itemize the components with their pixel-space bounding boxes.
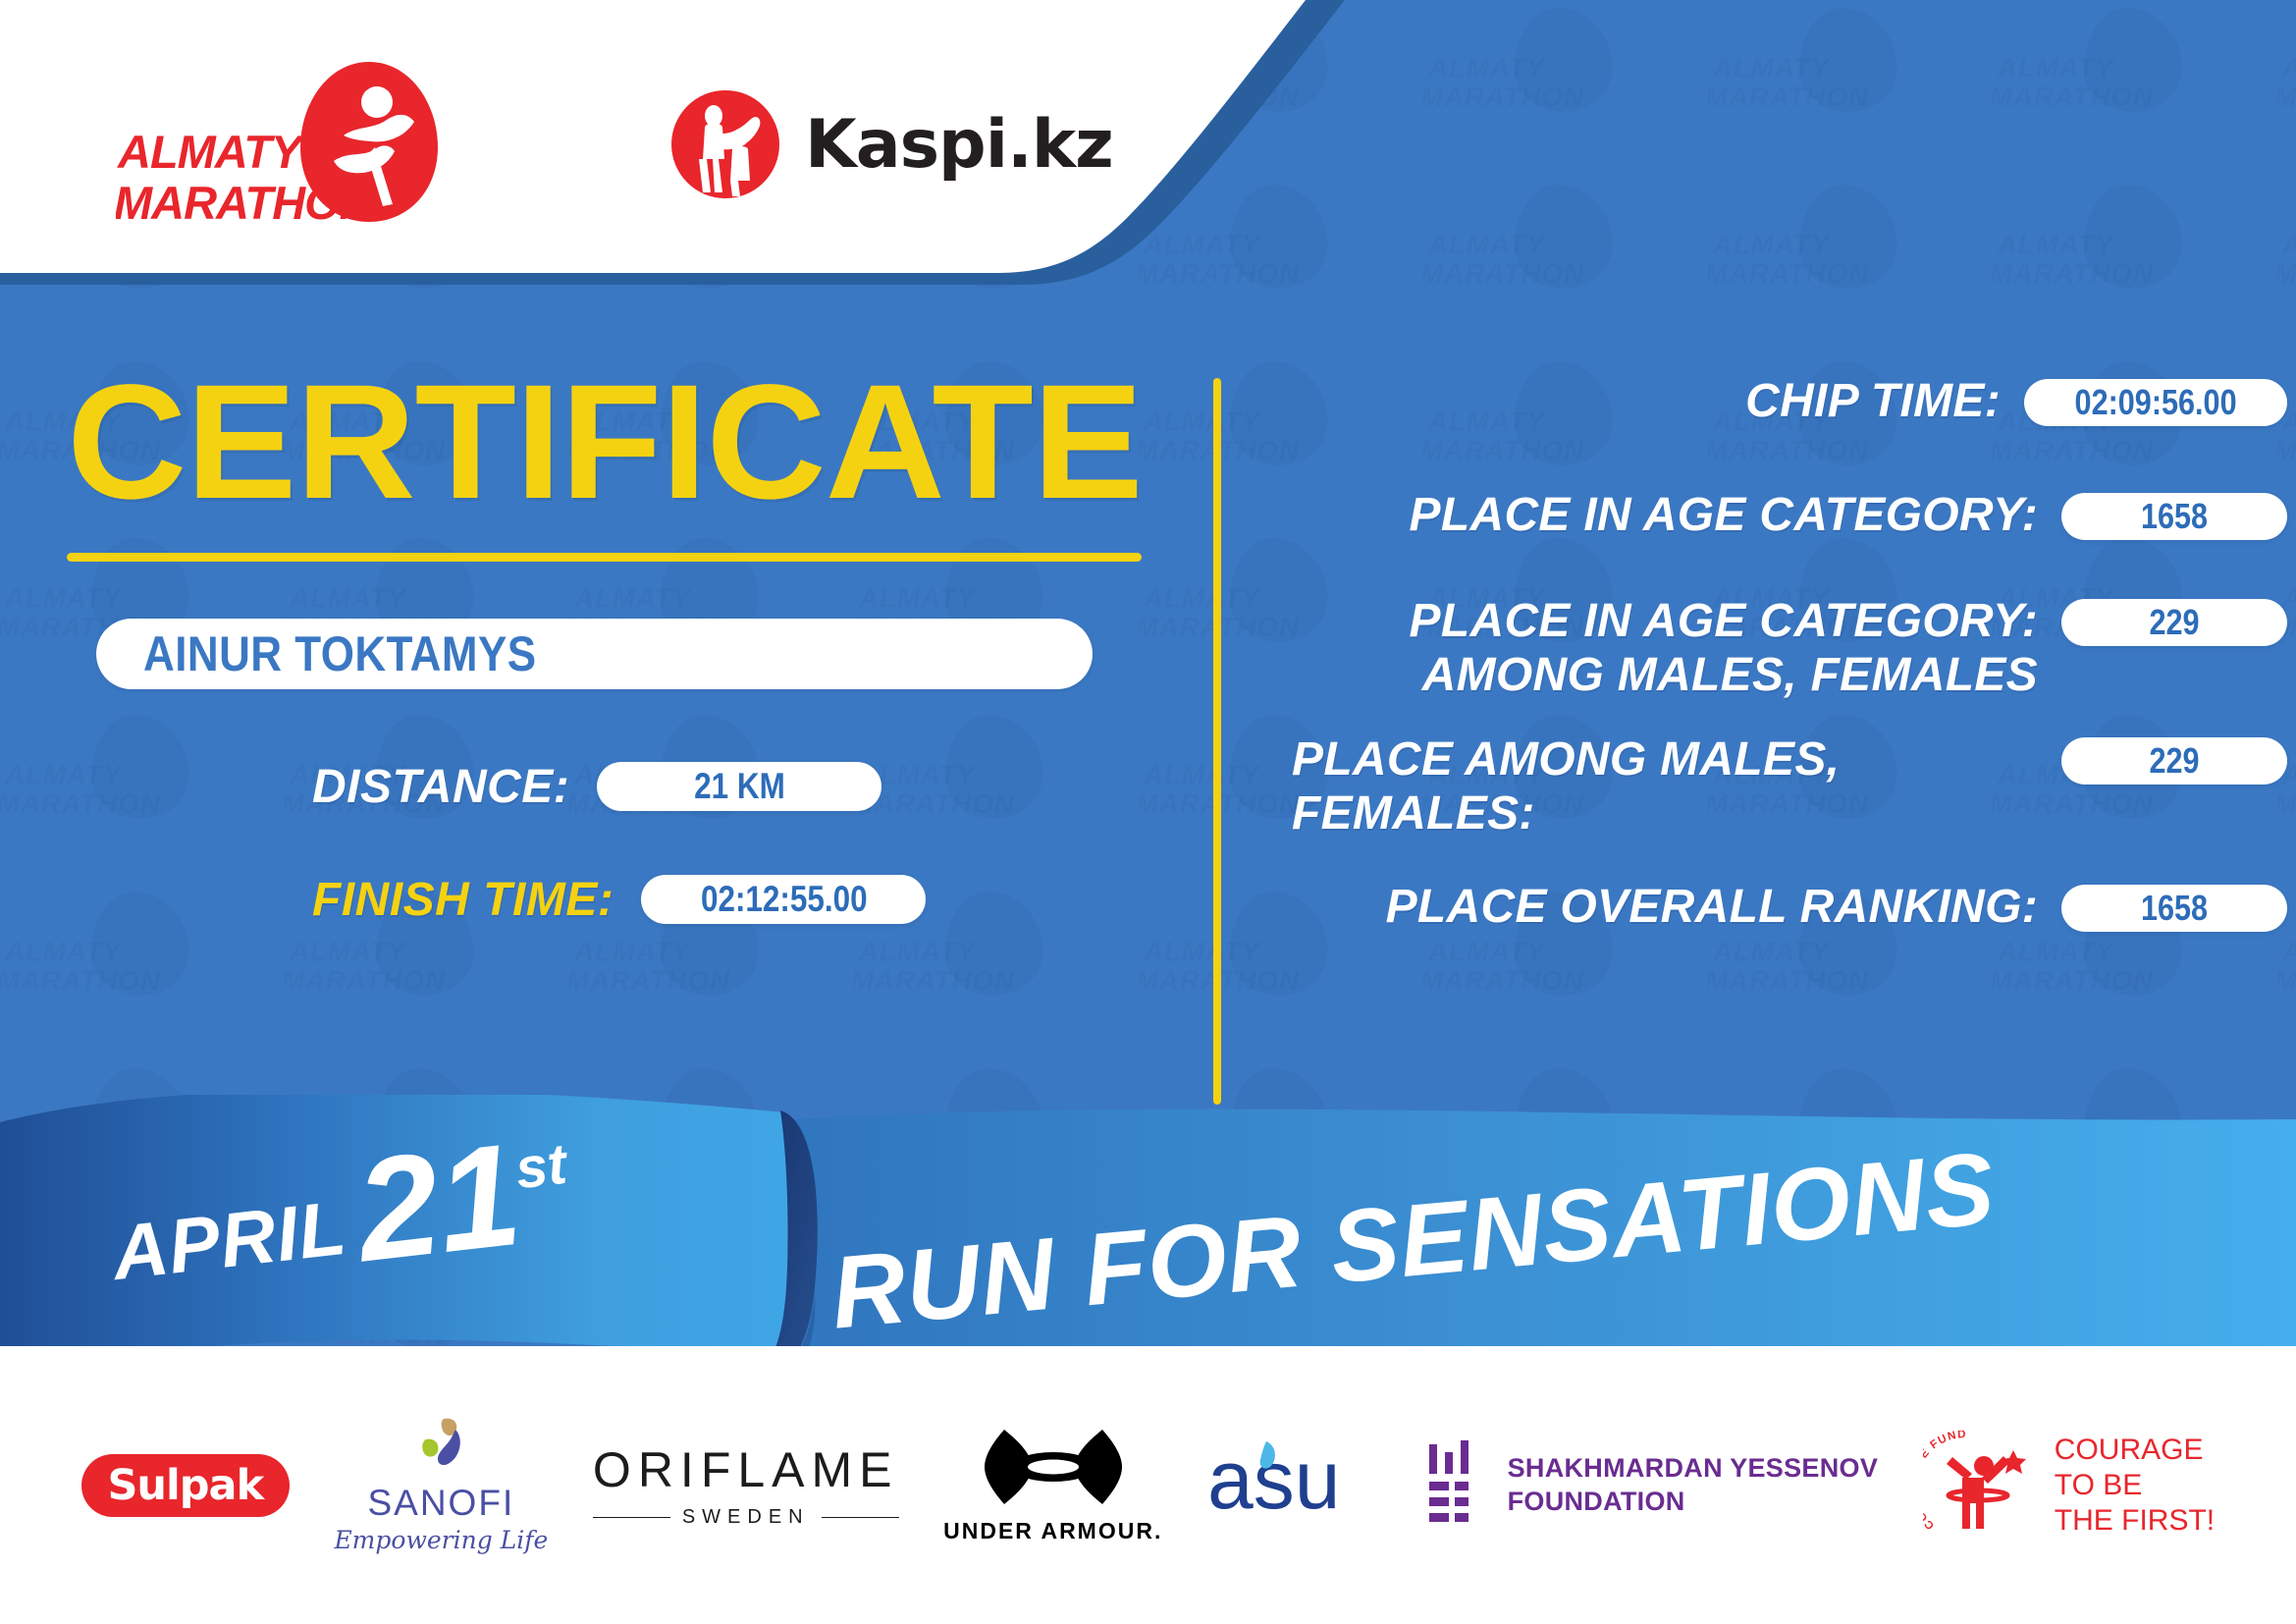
participant-name-value: AINUR TOKTAMYS (143, 625, 537, 682)
place-among-gender-label-line2: FEMALES: (1292, 787, 2061, 841)
finish-time-row: FINISH TIME: 02:12:55.00 (312, 873, 1207, 927)
svg-text:CORPORATE FUND: CORPORATE FUND (1923, 1431, 1967, 1532)
header-logos: ALMATY MARATHON Kaspi.kz (0, 0, 1178, 285)
place-age-category-label: PLACE IN AGE CATEGORY: (1207, 489, 2061, 543)
courage-logo-line2: TO BE (2055, 1468, 2215, 1503)
sulpak-logo-text: Sulpak (107, 1461, 263, 1510)
almaty-logo-line2: MARATHON (116, 177, 374, 229)
courage-logo-text: COURAGE TO BE THE FIRST! (2055, 1433, 2215, 1539)
certificate-body: CERTIFICATE AINUR TOKTAMYS DISTANCE: 21 … (0, 295, 2296, 1139)
oriflame-rule-left (593, 1517, 670, 1519)
place-age-category-gender-label-line1: PLACE IN AGE CATEGORY: (1207, 595, 2038, 649)
sulpak-logo: Sulpak (81, 1454, 290, 1517)
place-overall-value-pill: 1658 (2061, 885, 2287, 932)
oriflame-tagline: SWEDEN (682, 1506, 810, 1529)
under-armour-logo-text: UNDER ARMOUR. (943, 1518, 1162, 1544)
sponsor-sanofi: SANOFI Empowering Life (334, 1416, 548, 1554)
sponsor-sulpak: Sulpak (81, 1454, 290, 1517)
sponsor-asu: asu (1207, 1437, 1380, 1533)
distance-value: 21 KM (694, 766, 785, 807)
sponsor-yessenov-foundation: SHAKHMARDAN YESSENOV FOUNDATION (1425, 1440, 1879, 1531)
left-column: CERTIFICATE AINUR TOKTAMYS DISTANCE: 21 … (0, 295, 1207, 1139)
place-among-gender-value-pill: 229 (2061, 737, 2287, 785)
courage-logo-line1: COURAGE (2055, 1433, 2215, 1468)
kaspi-logo: Kaspi.kz (667, 86, 1113, 202)
oriflame-sub: SWEDEN (593, 1506, 899, 1529)
yessenov-logo-line1: SHAKHMARDAN YESSENOV (1508, 1452, 1879, 1486)
place-among-gender-value: 229 (2149, 740, 2199, 782)
chip-time-value: 02:09:56.00 (2074, 382, 2236, 423)
header-band: ALMATY MARATHON Kaspi.kz (0, 0, 1394, 295)
place-age-category-gender-value-pill: 229 (2061, 599, 2287, 646)
sponsors-footer: Sulpak SANOFI Empowering Life ORIFLAME (0, 1346, 2296, 1624)
place-among-gender-label: PLACE AMONG MALES, FEMALES: (1207, 733, 2061, 840)
finish-time-value: 02:12:55.00 (700, 879, 867, 920)
sanofi-tagline: Empowering Life (334, 1526, 548, 1554)
vertical-divider (1213, 378, 1221, 1105)
under-armour-logo: UNDER ARMOUR. (943, 1426, 1162, 1544)
kaspi-logo-text: Kaspi.kz (805, 106, 1113, 184)
almaty-marathon-logo: ALMATY MARATHON (116, 57, 440, 229)
certificate-page: ALMATY MARATHON (0, 0, 2296, 1624)
event-day-ordinal: st (512, 1131, 570, 1202)
distance-row: DISTANCE: 21 KM (312, 760, 1207, 814)
place-age-category-value-pill: 1658 (2061, 493, 2287, 540)
chip-time-label: CHIP TIME: (1207, 375, 2024, 429)
sponsor-oriflame: ORIFLAME SWEDEN (593, 1441, 899, 1529)
place-age-category-value: 1658 (2141, 496, 2208, 537)
result-row-place-age-category: PLACE IN AGE CATEGORY: 1658 (1207, 489, 2287, 552)
asu-logo: asu (1207, 1437, 1380, 1533)
event-day: 21 (351, 1131, 526, 1276)
yessenov-logo: SHAKHMARDAN YESSENOV FOUNDATION (1425, 1440, 1879, 1531)
sanofi-logo-text: SANOFI (367, 1483, 514, 1524)
courage-logo: CORPORATE FUND COURAGE TO BE THE FIRST! (1923, 1431, 2215, 1541)
place-age-category-gender-label: PLACE IN AGE CATEGORY: AMONG MALES, FEMA… (1207, 595, 2061, 702)
place-age-category-gender-label-line2: AMONG MALES, FEMALES (1207, 649, 2038, 703)
sanofi-logo: SANOFI Empowering Life (334, 1416, 548, 1554)
yessenov-mark-icon (1425, 1440, 1486, 1531)
almaty-logo-line1: ALMATY (117, 126, 305, 178)
under-armour-icon (981, 1426, 1126, 1510)
yessenov-logo-text: SHAKHMARDAN YESSENOV FOUNDATION (1508, 1452, 1879, 1519)
sanofi-mark-icon (410, 1416, 471, 1477)
result-row-place-among-gender: PLACE AMONG MALES, FEMALES: 229 (1207, 733, 2287, 840)
distance-label: DISTANCE: (312, 760, 569, 814)
result-row-place-age-category-gender: PLACE IN AGE CATEGORY: AMONG MALES, FEMA… (1207, 595, 2287, 702)
participant-name-field: AINUR TOKTAMYS (96, 619, 1093, 689)
yessenov-logo-line2: FOUNDATION (1508, 1486, 1879, 1519)
place-overall-value: 1658 (2141, 888, 2208, 929)
courage-arc-text: CORPORATE FUND (1923, 1431, 1967, 1532)
chip-time-value-pill: 02:09:56.00 (2024, 379, 2287, 426)
results-column: CHIP TIME: 02:09:56.00 PLACE IN AGE CATE… (1207, 295, 2287, 1139)
place-age-category-gender-value: 229 (2149, 602, 2199, 643)
courage-runner-icon: CORPORATE FUND (1923, 1431, 2041, 1541)
place-overall-label: PLACE OVERALL RANKING: (1207, 881, 2061, 935)
result-row-place-overall: PLACE OVERALL RANKING: 1658 (1207, 881, 2287, 944)
oriflame-logo-text: ORIFLAME (593, 1441, 899, 1498)
courage-logo-line3: THE FIRST! (2055, 1503, 2215, 1539)
oriflame-logo: ORIFLAME SWEDEN (593, 1441, 899, 1529)
sponsor-courage-fund: CORPORATE FUND COURAGE TO BE THE FIRST! (1923, 1431, 2215, 1541)
sponsor-under-armour: UNDER ARMOUR. (943, 1426, 1162, 1544)
finish-time-value-pill: 02:12:55.00 (641, 875, 926, 924)
distance-value-pill: 21 KM (597, 762, 881, 811)
result-row-chip-time: CHIP TIME: 02:09:56.00 (1207, 375, 2287, 438)
kaspi-people-icon (667, 86, 783, 202)
page-title: CERTIFICATE (59, 363, 1230, 523)
place-among-gender-label-line1: PLACE AMONG MALES, (1292, 733, 2061, 787)
oriflame-rule-right (822, 1517, 899, 1519)
finish-time-label: FINISH TIME: (312, 873, 614, 927)
title-underline (67, 553, 1142, 562)
